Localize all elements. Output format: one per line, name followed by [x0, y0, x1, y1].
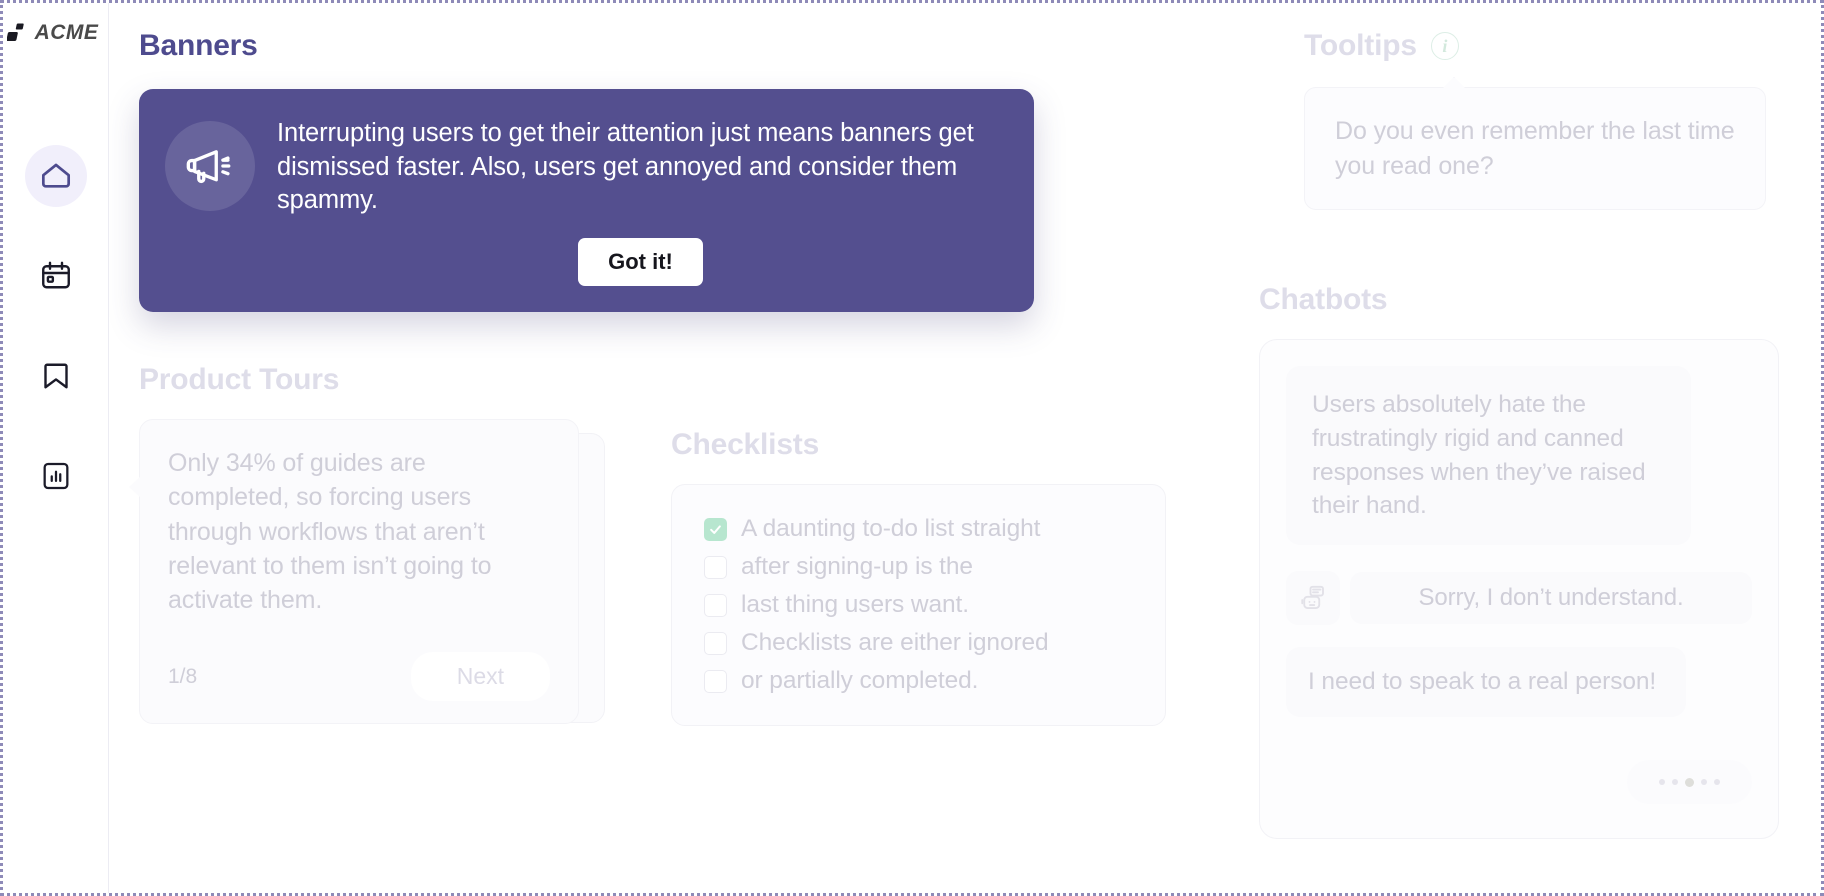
banners-title: Banners	[139, 29, 1034, 63]
chatbot-bot-row: Sorry, I don’t understand.	[1286, 571, 1752, 625]
banners-section: Banners Interrupting users to get their …	[139, 29, 1034, 312]
tooltip-card: Do you even remember the last time you r…	[1304, 87, 1766, 210]
home-icon	[37, 157, 75, 195]
typing-dot	[1701, 779, 1707, 785]
checklists-title: Checklists	[671, 428, 1166, 462]
tooltip-message: Do you even remember the last time you r…	[1335, 114, 1735, 183]
chatbot-card: Users absolutely hate the frustratingly …	[1259, 339, 1779, 839]
checklist-item-label: after signing-up is the	[741, 553, 973, 581]
checkbox-icon[interactable]	[704, 594, 727, 617]
checklists-section: Checklists A daunting to-do list straigh…	[671, 428, 1166, 726]
product-tours-section: Product Tours Only 34% of guides are com…	[139, 363, 599, 724]
robot-icon	[1286, 571, 1340, 625]
info-circle-icon[interactable]: i	[1431, 32, 1459, 60]
brand-logo[interactable]: ACME	[7, 21, 99, 45]
checklist-item[interactable]: or partially completed.	[704, 667, 1135, 695]
typing-dots-icon	[1627, 760, 1752, 804]
product-tours-stack: Only 34% of guides are completed, so for…	[139, 419, 599, 724]
chatbot-bot-reply: Sorry, I don’t understand.	[1350, 572, 1752, 624]
tooltips-section: Tooltips i Do you even remember the last…	[1304, 29, 1784, 210]
product-tours-title: Product Tours	[139, 363, 599, 397]
banner-message: Interrupting users to get their attentio…	[277, 117, 977, 218]
product-tours-footer: 1/8 Next	[168, 652, 550, 701]
checklist-card: A daunting to-do list straight after sig…	[671, 484, 1166, 726]
chatbot-user-message: I need to speak to a real person!	[1286, 647, 1686, 717]
main-content: Banners Interrupting users to get their …	[109, 3, 1821, 893]
checklist-item[interactable]: last thing users want.	[704, 591, 1135, 619]
typing-dot	[1714, 779, 1720, 785]
chatbots-section: Chatbots Users absolutely hate the frust…	[1259, 283, 1779, 839]
bar-chart-icon	[39, 459, 73, 493]
checklist-item-label: last thing users want.	[741, 591, 969, 619]
checklist-item-label: Checklists are either ignored	[741, 629, 1049, 657]
tooltips-title: Tooltips	[1304, 29, 1417, 63]
typing-dot	[1672, 779, 1678, 785]
checklist-item-label: A daunting to-do list straight	[741, 515, 1040, 543]
banner-actions: Got it!	[277, 238, 1004, 286]
banner-card: Interrupting users to get their attentio…	[139, 89, 1034, 312]
sidebar: ACME	[3, 3, 109, 893]
banner-body: Interrupting users to get their attentio…	[277, 115, 1004, 286]
chatbots-title: Chatbots	[1259, 283, 1779, 317]
checklist-item[interactable]: Checklists are either ignored	[704, 629, 1135, 657]
sidebar-item-bookmark[interactable]	[25, 345, 87, 407]
info-glyph: i	[1442, 36, 1447, 57]
sidebar-item-calendar[interactable]	[25, 245, 87, 307]
tooltip-arrow	[1443, 77, 1465, 88]
checklist-item[interactable]: after signing-up is the	[704, 553, 1135, 581]
chatbot-intro-message: Users absolutely hate the frustratingly …	[1286, 366, 1691, 545]
checkbox-icon[interactable]	[704, 556, 727, 579]
checklist-item-label: or partially completed.	[741, 667, 978, 695]
tour-next-button[interactable]: Next	[411, 652, 550, 701]
tour-pointer-tail	[129, 476, 141, 498]
checklist-item[interactable]: A daunting to-do list straight	[704, 515, 1135, 543]
sidebar-nav	[25, 145, 87, 507]
checkbox-checked-icon[interactable]	[704, 518, 727, 541]
sidebar-item-analytics[interactable]	[25, 445, 87, 507]
sidebar-item-home[interactable]	[25, 145, 87, 207]
product-tours-card: Only 34% of guides are completed, so for…	[139, 419, 579, 724]
bookmark-icon	[38, 358, 74, 394]
calendar-icon	[38, 258, 74, 294]
checkbox-icon[interactable]	[704, 632, 727, 655]
checkbox-icon[interactable]	[704, 670, 727, 693]
got-it-button[interactable]: Got it!	[578, 238, 703, 286]
tour-page-indicator: 1/8	[168, 665, 197, 689]
megaphone-icon	[165, 121, 255, 211]
typing-dot	[1685, 778, 1694, 787]
acme-logo-mark-icon	[7, 23, 29, 43]
brand-name: ACME	[35, 21, 99, 45]
typing-dot	[1659, 779, 1665, 785]
tooltips-header: Tooltips i	[1304, 29, 1784, 63]
app-window: ACME	[0, 0, 1824, 896]
product-tours-message: Only 34% of guides are completed, so for…	[168, 446, 550, 617]
